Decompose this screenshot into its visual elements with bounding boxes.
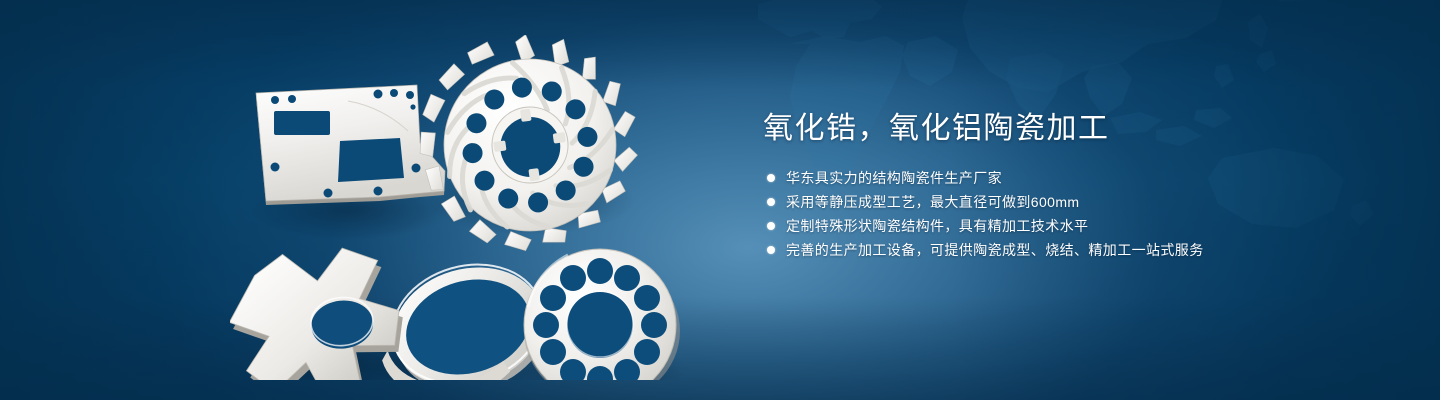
bullet-dot-icon [767,174,775,182]
page-title: 氧化锆，氧化铝陶瓷加工 [763,110,1383,148]
ceramic-impeller-disc [406,35,652,263]
feature-text: 华东具实力的结构陶瓷件生产厂家 [786,166,1002,190]
list-item: 定制特殊形状陶瓷结构件，具有精加工技术水平 [763,214,1383,238]
feature-text: 完善的生产加工设备，可提供陶瓷成型、烧结、精加工一站式服务 [786,238,1204,262]
feature-list: 华东具实力的结构陶瓷件生产厂家 采用等静压成型工艺，最大直径可做到600mm 定… [763,166,1383,262]
list-item: 华东具实力的结构陶瓷件生产厂家 [763,166,1383,190]
list-item: 完善的生产加工设备，可提供陶瓷成型、烧结、精加工一站式服务 [763,238,1383,262]
ceramic-products-group [230,35,700,380]
hero-banner: 氧化锆，氧化铝陶瓷加工 华东具实力的结构陶瓷件生产厂家 采用等静压成型工艺，最大… [0,0,1440,400]
list-item: 采用等静压成型工艺，最大直径可做到600mm [763,190,1383,214]
ceramic-perforated-disc [524,249,680,380]
bullet-dot-icon [767,198,775,206]
bullet-dot-icon [767,246,775,254]
feature-text: 采用等静压成型工艺，最大直径可做到600mm [786,190,1079,214]
bullet-dot-icon [767,222,775,230]
banner-copy: 氧化锆，氧化铝陶瓷加工 华东具实力的结构陶瓷件生产厂家 采用等静压成型工艺，最大… [763,110,1383,262]
ceramic-mounting-plate [256,85,445,205]
feature-text: 定制特殊形状陶瓷结构件，具有精加工技术水平 [786,214,1088,238]
